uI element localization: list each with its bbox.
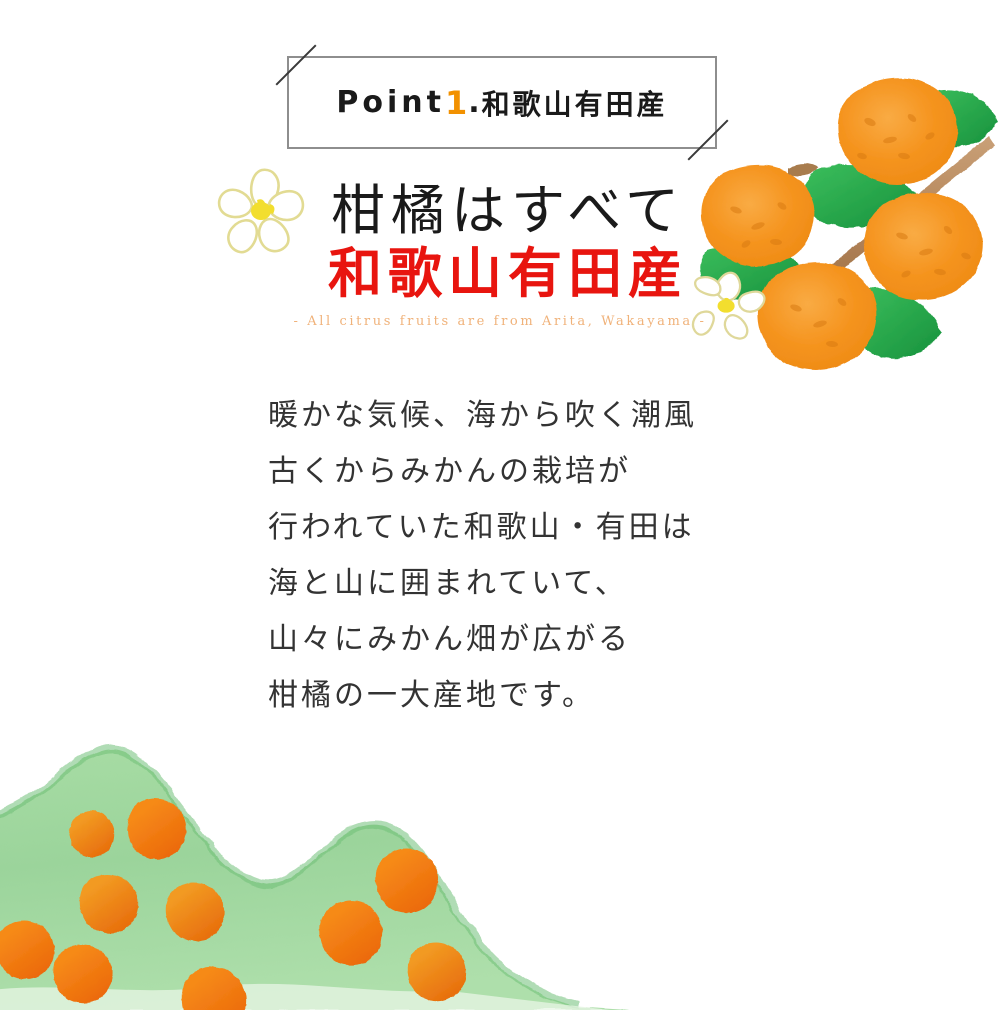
headline-line-1: 柑橘はすべて: [8, 180, 1000, 242]
leaf-group: [700, 89, 998, 358]
headline-subtitle: - All citrus fruits are from Arita, Waka…: [0, 314, 1000, 329]
body-line: 柑橘の一大産地です。: [268, 668, 788, 724]
citrus-blossom-icon: [693, 273, 764, 339]
orchard-hills-illustration: [0, 735, 670, 1010]
hill-mist: [0, 984, 610, 1010]
point-badge-text: Point1.和歌山有田産: [289, 58, 715, 147]
body-line: 暖かな気候、海から吹く潮風: [268, 388, 788, 444]
blossom-center: [251, 199, 274, 220]
body-line: 古くからみかんの栽培が: [268, 444, 788, 500]
blossom-center: [718, 298, 735, 313]
orchard-fruit-dots: [0, 798, 466, 1010]
body-line: 海と山に囲まれていて、: [268, 556, 788, 612]
body-line: 山々にみかん畑が広がる: [268, 612, 788, 668]
citrus-blossom-left: [212, 162, 312, 262]
poster-canvas: Point1.和歌山有田産 柑橘はすべて 和歌山有田産 - All citrus…: [0, 0, 1000, 1000]
body-copy: 暖かな気候、海から吹く潮風 古くからみかんの栽培が 行われていた和歌山・有田は …: [268, 388, 788, 724]
headline-block: 柑橘はすべて 和歌山有田産 - All citrus fruits are fr…: [0, 180, 1000, 329]
orange-fruit-group: [702, 78, 983, 370]
point-badge: Point1.和歌山有田産: [287, 56, 717, 149]
orange-peel-speckles: [729, 112, 971, 347]
point-separator: .: [468, 85, 481, 120]
fruit-stem-nubs: [788, 127, 954, 176]
body-line: 行われていた和歌山・有田は: [268, 500, 788, 556]
branch-stem: [798, 136, 995, 300]
point-japanese-label: 和歌山有田産: [482, 83, 668, 123]
point-number: 1: [445, 84, 468, 122]
hill-shape: [0, 745, 630, 1010]
mandarin-branch-illustration: [690, 60, 1000, 400]
point-word: Point: [336, 85, 445, 120]
headline-line-2: 和歌山有田産: [8, 242, 1000, 304]
